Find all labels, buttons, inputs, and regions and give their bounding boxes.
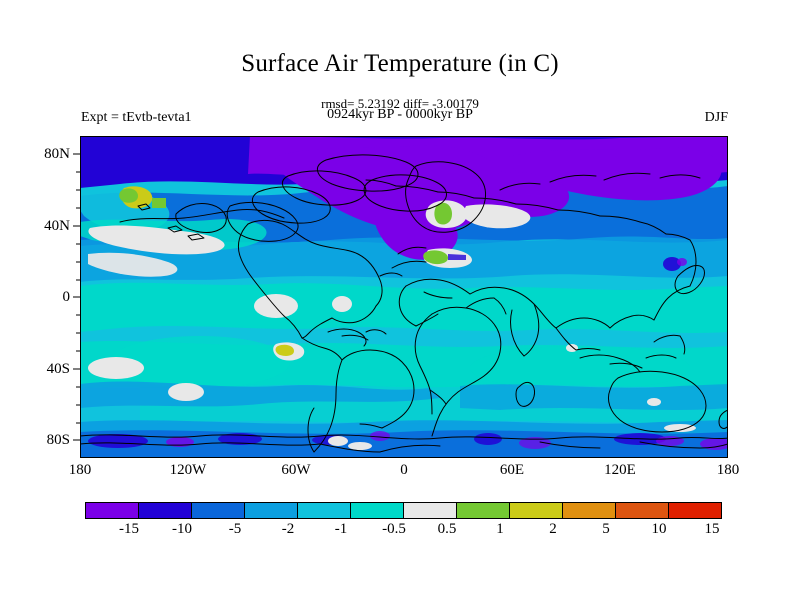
colorbar-label-8: 2 xyxy=(531,521,575,538)
map-plot-area xyxy=(80,136,728,458)
colorbar-band-2 xyxy=(191,503,244,518)
x-tick-label-120w: 120W xyxy=(158,462,218,479)
x-tick-label-60w: 60W xyxy=(266,462,326,479)
y-tick-label-0: 0 xyxy=(14,289,70,306)
x-tick-label-0: 0 xyxy=(374,462,434,479)
y-tick-label-80n: 80N xyxy=(14,146,70,163)
colorbar-band-11 xyxy=(668,503,721,518)
experiment-label: Expt = tEvtb-tevta1 xyxy=(81,110,192,126)
colorbar-band-0 xyxy=(86,503,138,518)
colorbar-label-2: -5 xyxy=(213,521,257,538)
colorbar-band-1 xyxy=(138,503,191,518)
x-tick-label-180w: 180 xyxy=(50,462,110,479)
colorbar-band-6 xyxy=(403,503,456,518)
colorbar-band-5 xyxy=(350,503,403,518)
colorbar-band-9 xyxy=(562,503,615,518)
colorbar-band-10 xyxy=(615,503,668,518)
y-tick-label-80s: 80S xyxy=(14,432,70,449)
colorbar-label-7: 1 xyxy=(478,521,522,538)
y-tick-label-40n: 40N xyxy=(14,218,70,235)
colorbar-label-0: -15 xyxy=(107,521,151,538)
colorbar-band-4 xyxy=(297,503,350,518)
colorbar-band-3 xyxy=(244,503,297,518)
y-axis-ticks xyxy=(70,136,80,458)
colorbar-label-5: -0.5 xyxy=(372,521,416,538)
colorbar-label-6: 0.5 xyxy=(425,521,469,538)
x-tick-label-120e: 120E xyxy=(590,462,650,479)
colorbar-label-10: 10 xyxy=(637,521,681,538)
colorbar-band-7 xyxy=(456,503,509,518)
colorbar xyxy=(85,502,722,519)
x-tick-label-60e: 60E xyxy=(482,462,542,479)
x-tick-label-180e: 180 xyxy=(698,462,758,479)
colorbar-label-9: 5 xyxy=(584,521,628,538)
y-tick-label-40s: 40S xyxy=(14,361,70,378)
season-label: DJF xyxy=(705,110,728,126)
colorbar-label-4: -1 xyxy=(319,521,363,538)
colorbar-label-11: 15 xyxy=(690,521,734,538)
colorbar-label-1: -10 xyxy=(160,521,204,538)
figure-root: Surface Air Temperature (in C) rmsd= 5.2… xyxy=(0,0,800,600)
colorbar-label-3: -2 xyxy=(266,521,310,538)
page-title: Surface Air Temperature (in C) xyxy=(0,50,800,78)
colorbar-band-8 xyxy=(509,503,562,518)
